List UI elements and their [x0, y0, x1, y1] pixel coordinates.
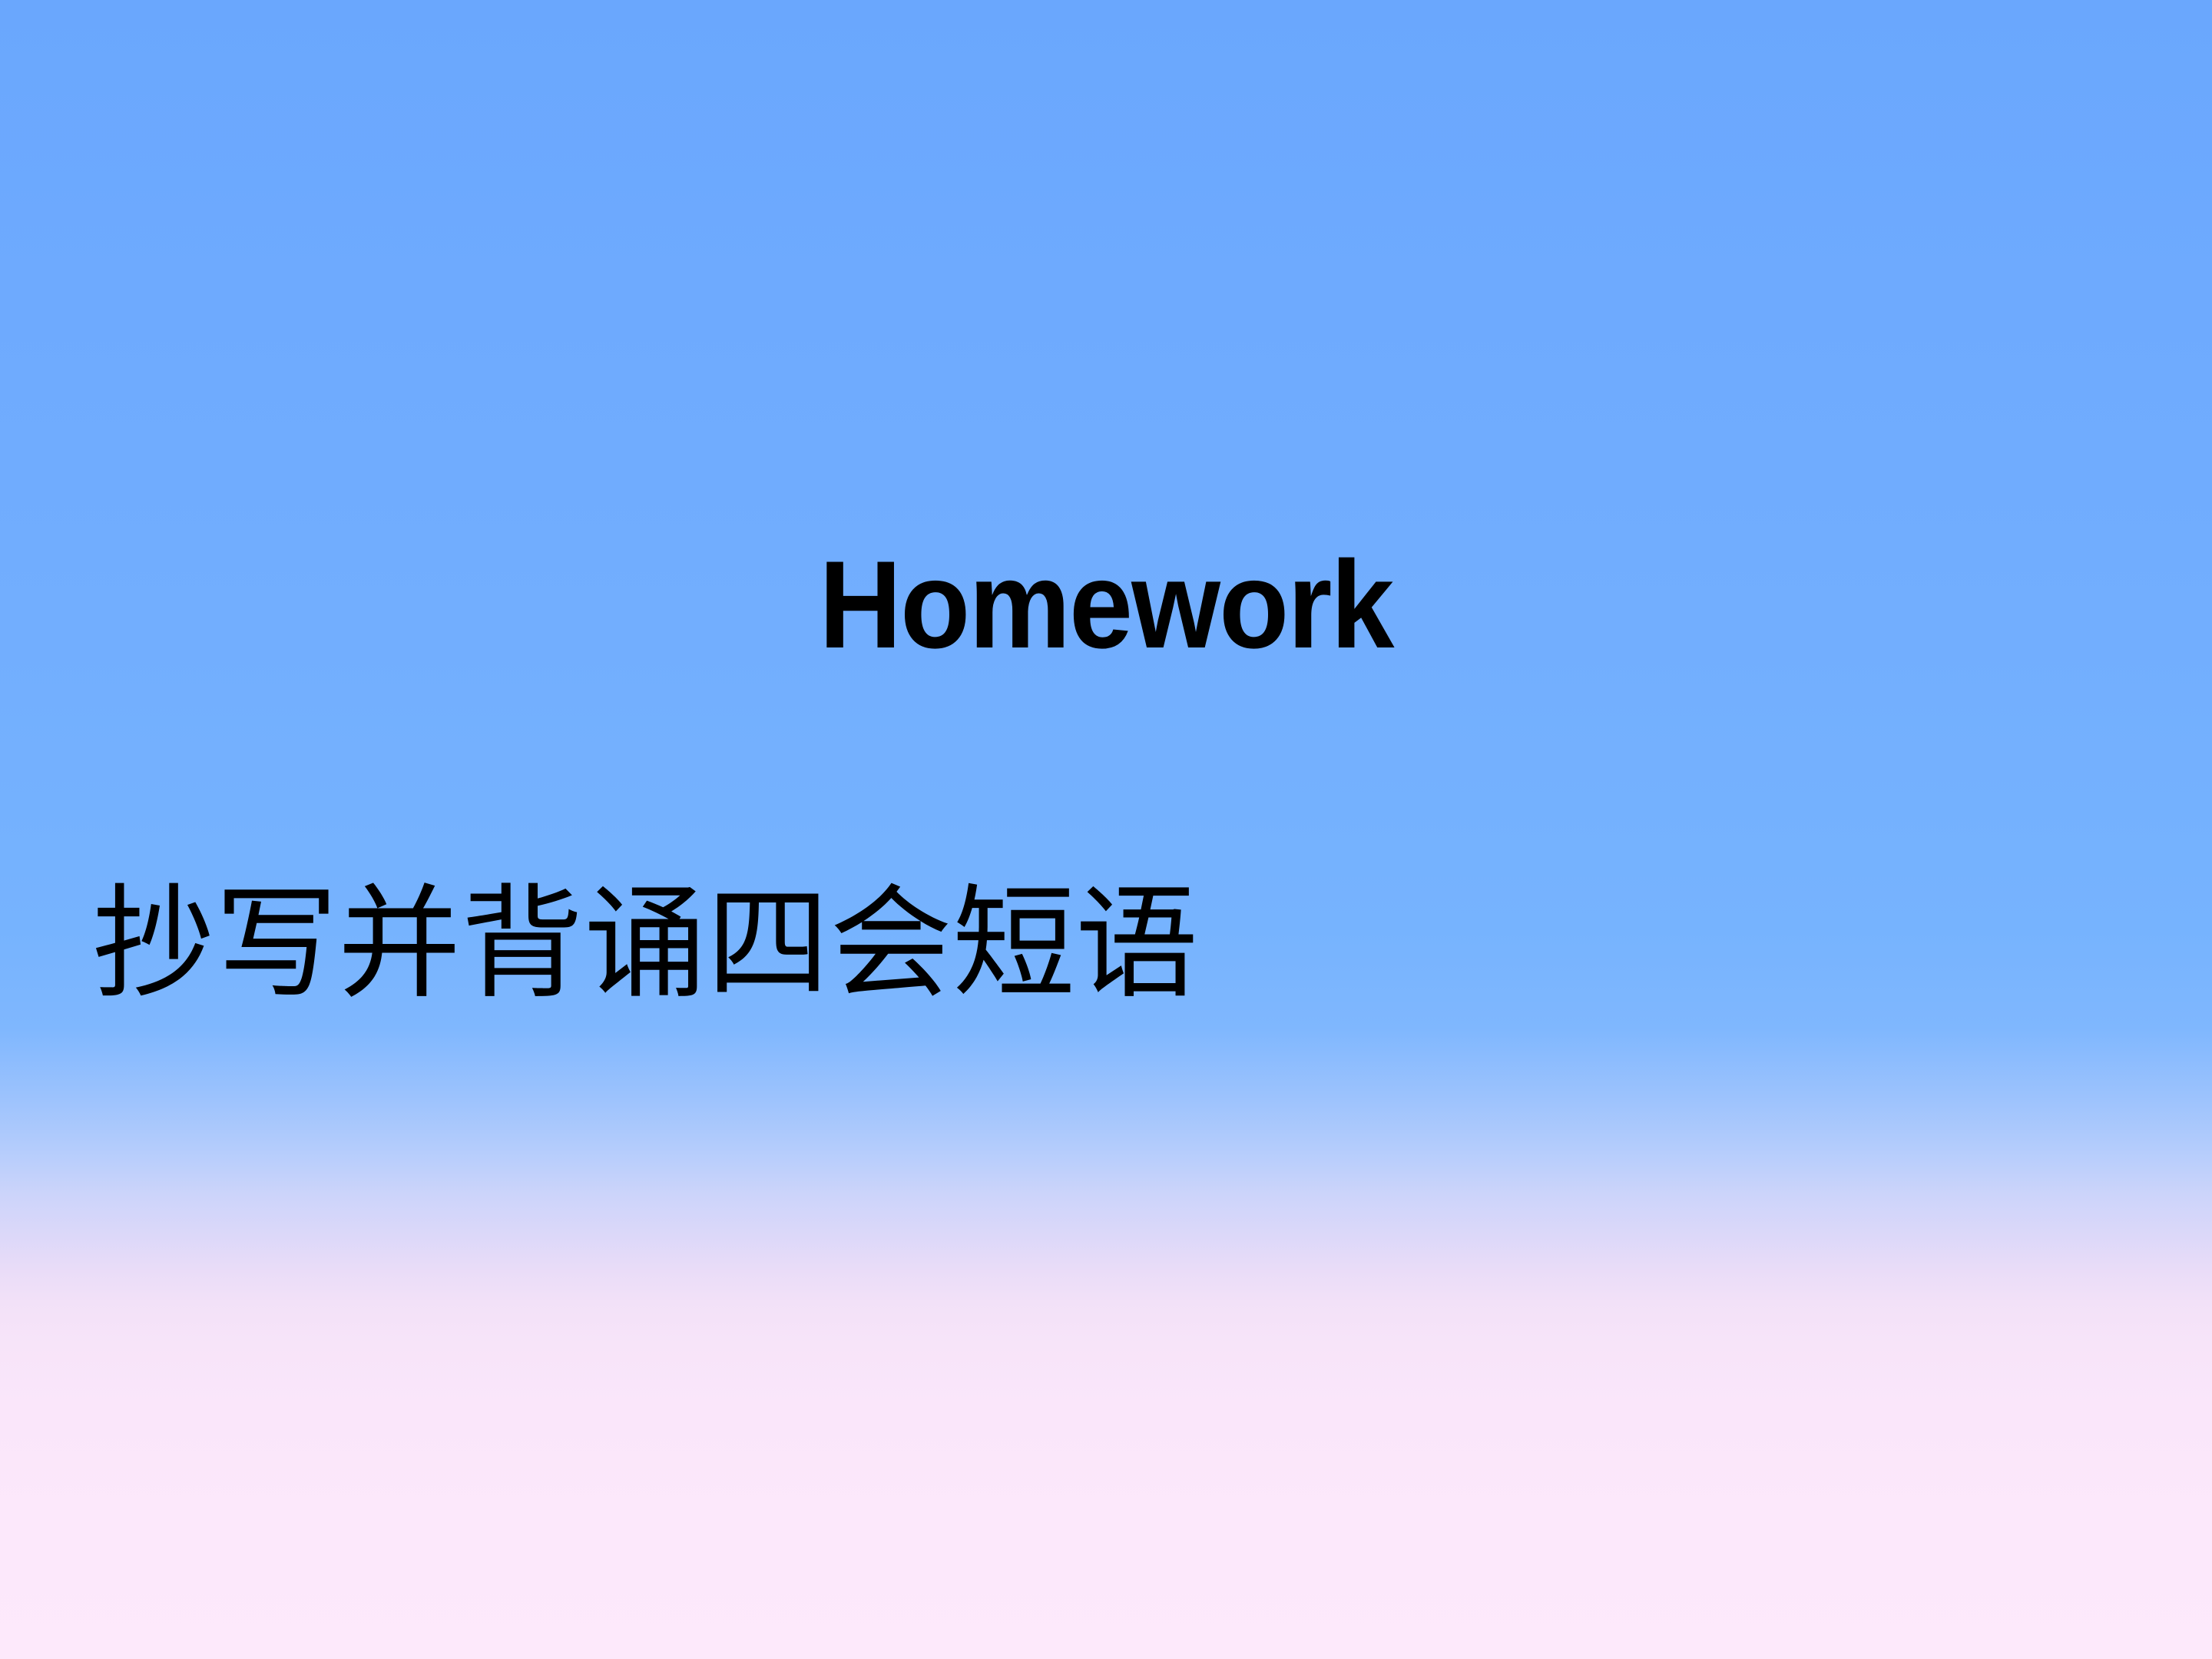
- body-line-1: 抄写并背诵四会短语: [92, 872, 2120, 1017]
- page-title: Homework: [88, 543, 2124, 667]
- slide-body: 抄写并背诵四会短语: [92, 749, 2120, 1140]
- presentation-slide: Homework 抄写并背诵四会短语: [0, 0, 2212, 1659]
